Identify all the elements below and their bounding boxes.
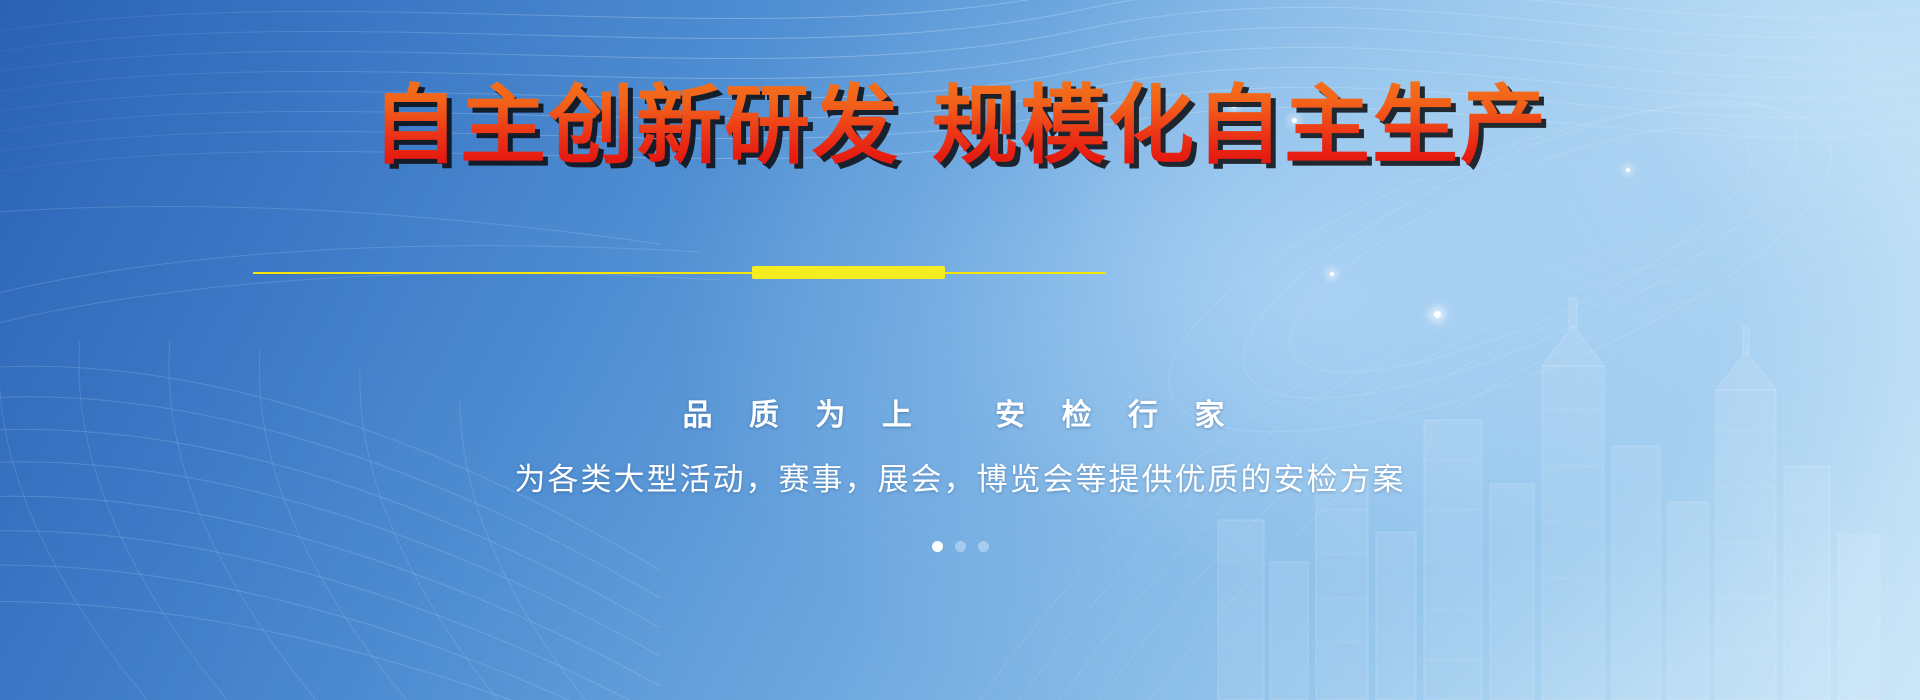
divider-accent-bar <box>752 266 945 279</box>
banner-subtitle-secondary: 为各类大型活动，赛事，展会，博览会等提供优质的安检方案 <box>0 454 1920 499</box>
divider-line <box>253 272 1106 274</box>
carousel-dots[interactable] <box>0 541 1920 552</box>
title-divider <box>253 271 1106 274</box>
carousel-dot-3[interactable] <box>978 541 989 552</box>
hero-banner: 自主创新研发 规模化自主生产 品 质 为 上 安 检 行 家 为各类大型活动，赛… <box>0 0 1920 700</box>
carousel-dot-1[interactable] <box>932 541 943 552</box>
banner-headline: 自主创新研发 规模化自主生产 <box>0 74 1920 178</box>
banner-content: 自主创新研发 规模化自主生产 品 质 为 上 安 检 行 家 为各类大型活动，赛… <box>0 0 1920 700</box>
banner-subtitle-primary: 品 质 为 上 安 检 行 家 <box>0 390 1920 434</box>
carousel-dot-2[interactable] <box>955 541 966 552</box>
